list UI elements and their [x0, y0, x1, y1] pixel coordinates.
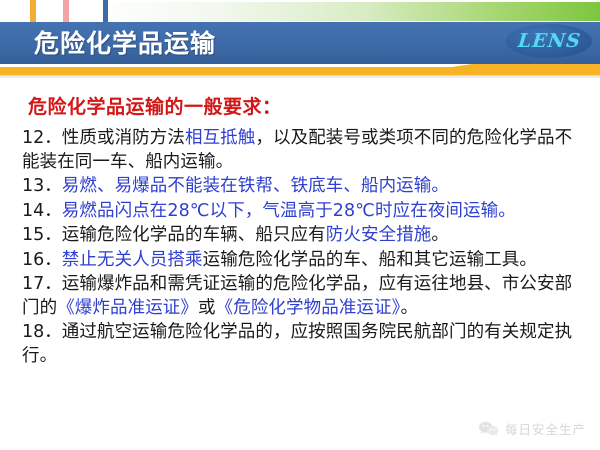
requirement-text-highlight: 防火安全措施 — [326, 225, 432, 245]
requirement-item: 14．易燃品闪点在28℃以下，气温高于28℃时应在夜间运输。 — [22, 200, 582, 224]
requirement-item: 15．运输危险化学品的车辆、船只应有防火安全措施。 — [22, 224, 582, 248]
decor-tick-orange — [30, 0, 36, 22]
top-decorative-strip — [0, 0, 600, 22]
requirement-text: 性质或消防方法 — [62, 128, 185, 148]
decor-tick-pink — [63, 0, 69, 22]
lens-logo-text: LENS — [516, 30, 581, 52]
watermark-label: 每日安全生产 — [505, 419, 586, 438]
requirement-text-highlight: 《危险化学物品准运证》 — [216, 298, 401, 318]
wechat-icon — [478, 421, 500, 437]
requirement-number: 18． — [22, 322, 62, 342]
requirement-number: 12． — [22, 128, 62, 148]
requirement-text-highlight: 禁止无关人员搭乘 — [62, 250, 203, 270]
requirement-item: 16．禁止无关人员搭乘运输危险化学品的车、船和其它运输工具。 — [22, 249, 582, 273]
page-title: 危险化学品运输 — [34, 27, 216, 60]
requirement-text-highlight: 相互抵触 — [185, 128, 255, 148]
requirement-text: 通过航空运输危险化学品的，应按照国务院民航部门的有关规定执行。 — [22, 322, 572, 366]
section-heading: 危险化学品运输的一般要求： — [28, 92, 282, 119]
requirement-number: 16． — [22, 250, 62, 270]
requirement-text-highlight: 易燃、易爆品不能装在铁帮、铁底车、船内运输。 — [62, 176, 449, 196]
requirement-text: 运输危险化学品的车辆、船只应有 — [62, 225, 326, 245]
orange-accent-bar — [0, 64, 600, 75]
requirement-number: 13． — [22, 176, 62, 196]
requirement-text: 。 — [431, 225, 449, 245]
decor-green-gradient-bar — [108, 2, 600, 21]
requirement-text: 。 — [400, 298, 418, 318]
requirement-item: 17．运输爆炸品和需凭证运输的危险化学品，应有运往地县、市公安部门的《爆炸品准运… — [22, 273, 582, 320]
requirement-number: 14． — [22, 201, 62, 221]
requirement-number: 15． — [22, 225, 62, 245]
requirement-list: 12．性质或消防方法相互抵触，以及配装号或类项不同的危险化学品不能装在同一车、船… — [22, 127, 582, 369]
requirement-text: 或 — [198, 298, 216, 318]
requirement-item: 18．通过航空运输危险化学品的，应按照国务院民航部门的有关规定执行。 — [22, 321, 582, 368]
slide-content: 危险化学品运输的一般要求： 12．性质或消防方法相互抵触，以及配装号或类项不同的… — [0, 79, 600, 409]
slide-root: 危险化学品运输 LENS 危险化学品运输的一般要求： 12．性质或消防方法相互抵… — [0, 0, 600, 450]
requirement-text-highlight: 易燃品闪点在28℃以下，气温高于28℃时应在夜间运输。 — [62, 201, 516, 221]
lens-logo-badge: LENS — [506, 24, 592, 58]
requirement-text-highlight: 《爆炸品准运证》 — [57, 298, 198, 318]
requirement-text: 运输危险化学品的车、船和其它运输工具。 — [203, 250, 537, 270]
requirement-number: 17． — [22, 274, 62, 294]
requirement-item: 12．性质或消防方法相互抵触，以及配装号或类项不同的危险化学品不能装在同一车、船… — [22, 127, 582, 174]
footer-watermark: 每日安全生产 — [478, 419, 586, 438]
requirement-item: 13．易燃、易爆品不能装在铁帮、铁底车、船内运输。 — [22, 175, 582, 199]
